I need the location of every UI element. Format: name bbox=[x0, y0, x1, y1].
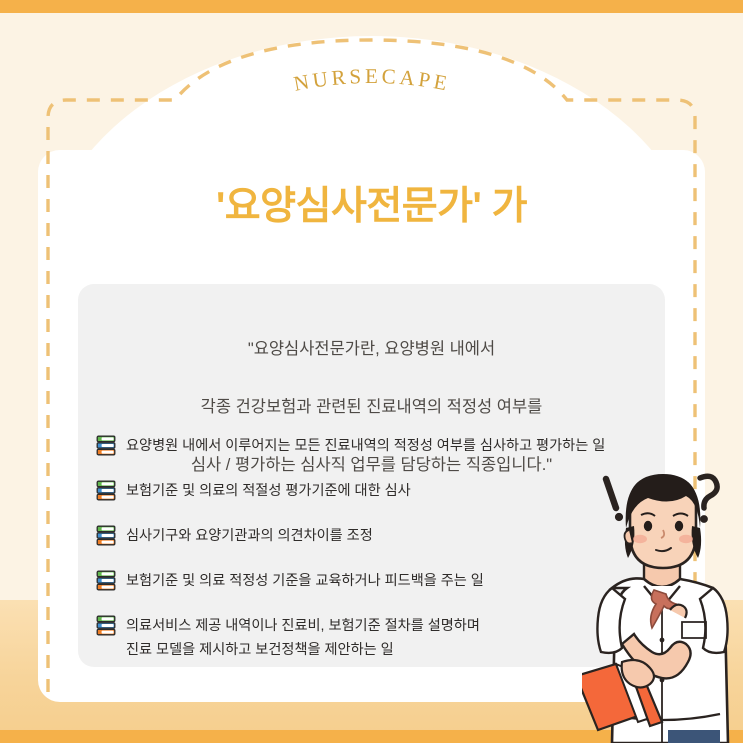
list-item-text: 보험기준 및 의료 적정성 기준을 교육하거나 피드백을 주는 일 bbox=[126, 569, 484, 593]
thinking-nurse-illustration bbox=[582, 462, 743, 743]
brand-logo: NURSECAPE bbox=[0, 60, 743, 106]
book-stack-icon bbox=[96, 570, 116, 591]
svg-text:NURSECAPE: NURSECAPE bbox=[291, 64, 452, 96]
list-item: 심사기구와 요양기관과의 의견차이를 조정 bbox=[96, 524, 656, 548]
eye-right bbox=[675, 521, 683, 531]
question-mark-icon bbox=[700, 476, 717, 522]
eye-left bbox=[644, 521, 652, 531]
infographic-canvas: NURSECAPE '요양심사전문가' 가 하는 일은 무엇일까? "요양심사전… bbox=[0, 0, 743, 743]
book-stack-icon bbox=[96, 480, 116, 501]
title-line-1: '요양심사전문가' 가 bbox=[0, 178, 743, 235]
list-item: 의료서비스 제공 내역이나 진료비, 보험기준 절차를 설명하며 진료 모델을 … bbox=[96, 614, 656, 662]
list-item: 보험기준 및 의료의 적절성 평가기준에 대한 심사 bbox=[96, 479, 656, 503]
list-item: 요양병원 내에서 이루어지는 모든 진료내역의 적정성 여부를 심사하고 평가하… bbox=[96, 434, 656, 458]
content-panel: "요양심사전문가란, 요양병원 내에서 각종 건강보험과 관련된 진료내역의 적… bbox=[78, 284, 665, 667]
duties-list: 요양병원 내에서 이루어지는 모든 진료내역의 적정성 여부를 심사하고 평가하… bbox=[96, 434, 656, 662]
quote-line-1: "요양심사전문가란, 요양병원 내에서 bbox=[78, 335, 665, 364]
logo-text: NURSECAPE bbox=[291, 64, 452, 96]
list-item-text: 의료서비스 제공 내역이나 진료비, 보험기준 절차를 설명하며 진료 모델을 … bbox=[126, 614, 480, 662]
quote-line-2: 각종 건강보험과 관련된 진료내역의 적정성 여부를 bbox=[78, 393, 665, 422]
book-stack-icon bbox=[96, 525, 116, 546]
list-item-text: 심사기구와 요양기관과의 의견차이를 조정 bbox=[126, 524, 373, 548]
exclamation-mark-icon bbox=[606, 479, 623, 521]
list-item: 보험기준 및 의료 적정성 기준을 교육하거나 피드백을 주는 일 bbox=[96, 569, 656, 593]
list-item-text: 보험기준 및 의료의 적절성 평가기준에 대한 심사 bbox=[126, 479, 411, 503]
nursecape-wordmark: NURSECAPE bbox=[242, 60, 502, 106]
top-accent-bar bbox=[0, 0, 743, 13]
list-item-text: 요양병원 내에서 이루어지는 모든 진료내역의 적정성 여부를 심사하고 평가하… bbox=[126, 434, 605, 458]
book-stack-icon bbox=[96, 615, 116, 636]
book-stack-icon bbox=[96, 435, 116, 456]
